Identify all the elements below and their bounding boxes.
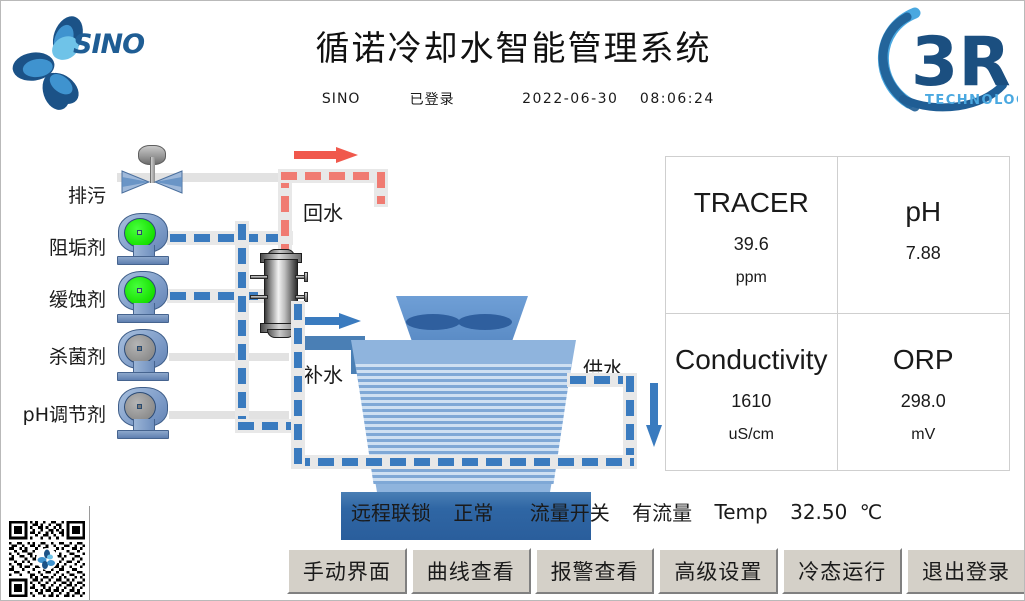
return-pipe-downleg <box>374 169 388 207</box>
biocide-pipe <box>169 353 289 361</box>
measurement-unit: ppm <box>736 269 767 287</box>
qr-center-logo <box>36 548 58 570</box>
advanced-settings-button[interactable]: 高级设置 <box>658 548 778 594</box>
pump-corrosion-inhibitor[interactable] <box>115 271 171 323</box>
user-name: SINO <box>312 91 370 107</box>
login-state: 已登录 <box>410 89 455 109</box>
scale-inhibitor-feed-pipe <box>167 231 293 245</box>
alarm-view-button[interactable]: 报警查看 <box>535 548 655 594</box>
pump-scale-inhibitor[interactable] <box>115 213 171 265</box>
supply-pipe-left-riser <box>291 301 305 469</box>
measurement-tile-conductivity: Conductivity 1610 uS/cm <box>666 314 838 471</box>
measurement-name: ORP <box>893 343 954 377</box>
pump-center-dot <box>137 230 142 235</box>
dosing-header-riser <box>235 221 249 431</box>
fan-blade-icon <box>458 314 512 330</box>
pump-center-dot <box>137 404 142 409</box>
remote-interlock-label: 远程联锁 <box>351 497 431 526</box>
hmi-screen: SINO 循诺冷却水智能管理系统 SINO 已登录 2022-06-30 08:… <box>0 0 1025 601</box>
drain-valve[interactable] <box>121 145 183 197</box>
remote-interlock-value: 正常 <box>453 497 493 526</box>
pump-base <box>117 430 169 439</box>
measurement-panel: TRACER 39.6 ppm pH 7.88 Conductivity 161… <box>665 156 1010 471</box>
status-row: 远程联锁 正常 流量开关 有流量 Temp 32.50 ℃ <box>351 497 1011 527</box>
system-date: 2022-06-30 <box>522 91 618 107</box>
measurement-value: 39.6 <box>734 234 769 255</box>
measurement-name: Conductivity <box>675 343 828 377</box>
process-diagram <box>1 131 661 481</box>
measurement-name: TRACER <box>694 186 809 220</box>
temperature-unit: ℃ <box>860 500 882 524</box>
system-time: 08:06:24 <box>640 91 715 107</box>
measurement-tile-tracer: TRACER 39.6 ppm <box>666 157 838 314</box>
footer-divider <box>89 506 90 601</box>
measurement-value: 1610 <box>731 391 771 412</box>
supply-flow-arrow-icon <box>646 383 662 449</box>
measurement-unit: mV <box>911 426 935 444</box>
flow-switch-label: 流量开关 <box>530 497 610 526</box>
header-bar: SINO 循诺冷却水智能管理系统 SINO 已登录 2022-06-30 08:… <box>1 1 1025 127</box>
valve-body-icon <box>121 169 183 195</box>
vessel-nozzle-left-upper <box>250 275 268 279</box>
measurement-name: pH <box>905 195 941 229</box>
flow-switch-value: 有流量 <box>632 497 692 526</box>
measurement-unit: uS/cm <box>729 426 774 444</box>
3r-technology-logo: 3R TECHNOLOGY <box>863 3 1018 123</box>
manual-interface-button[interactable]: 手动界面 <box>287 548 407 594</box>
pump-center-dot <box>137 346 142 351</box>
temperature-value: 32.50 <box>790 500 847 524</box>
pump-center-dot <box>137 288 142 293</box>
measurement-value: 298.0 <box>901 391 946 412</box>
trend-view-button[interactable]: 曲线查看 <box>411 548 531 594</box>
qr-code <box>9 521 85 597</box>
return-pipe-horizontal <box>278 169 388 183</box>
pump-base <box>117 256 169 265</box>
vessel-nozzle-left-lower <box>250 295 268 299</box>
supply-pipe-bottom <box>291 455 637 469</box>
ph-adjuster-pipe <box>169 411 289 419</box>
measurement-tile-ph: pH 7.88 <box>838 157 1010 314</box>
cold-start-button[interactable]: 冷态运行 <box>782 548 902 594</box>
logout-button[interactable]: 退出登录 <box>906 548 1025 594</box>
svg-text:TECHNOLOGY: TECHNOLOGY <box>925 93 1018 108</box>
pump-ph-adjuster[interactable] <box>115 387 171 439</box>
svg-text:3R: 3R <box>911 23 1011 102</box>
tower-fan-shroud <box>396 296 528 341</box>
measurement-value: 7.88 <box>906 243 941 264</box>
vessel-flange-right-upper <box>304 272 308 282</box>
pump-base <box>117 372 169 381</box>
fan-blade-icon <box>406 314 460 330</box>
return-flow-arrow-icon <box>294 147 360 163</box>
measurement-tile-orp: ORP 298.0 mV <box>838 314 1010 471</box>
pump-base <box>117 314 169 323</box>
toolbar: 手动界面 曲线查看 报警查看 高级设置 冷态运行 退出登录 <box>287 548 1025 594</box>
pump-biocide[interactable] <box>115 329 171 381</box>
temperature-label: Temp <box>714 500 767 524</box>
